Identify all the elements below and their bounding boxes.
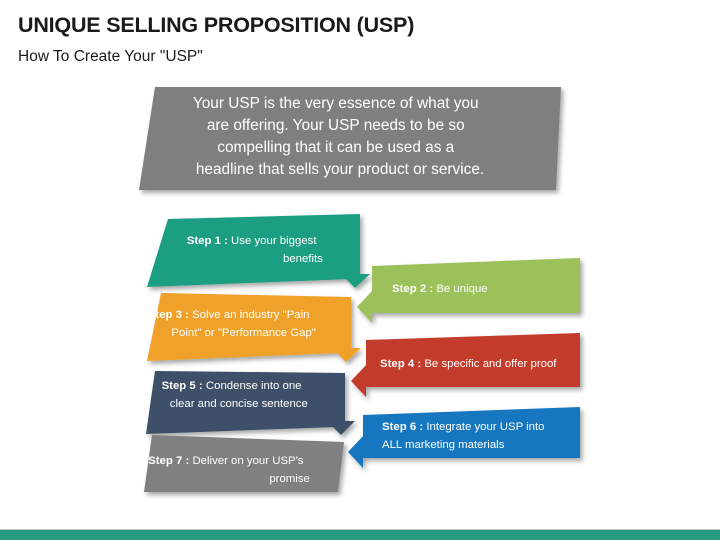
step-6-shape[interactable] [348, 407, 580, 468]
slide-canvas: UNIQUE SELLING PROPOSITION (USP) How To … [0, 0, 720, 540]
step-1-shape[interactable] [147, 214, 370, 288]
usp-definition-banner: Your USP is the very essence of what you… [0, 0, 561, 190]
bottom-accent-bar [0, 530, 720, 540]
usp-process-graphic: Your USP is the very essence of what you… [0, 0, 720, 540]
